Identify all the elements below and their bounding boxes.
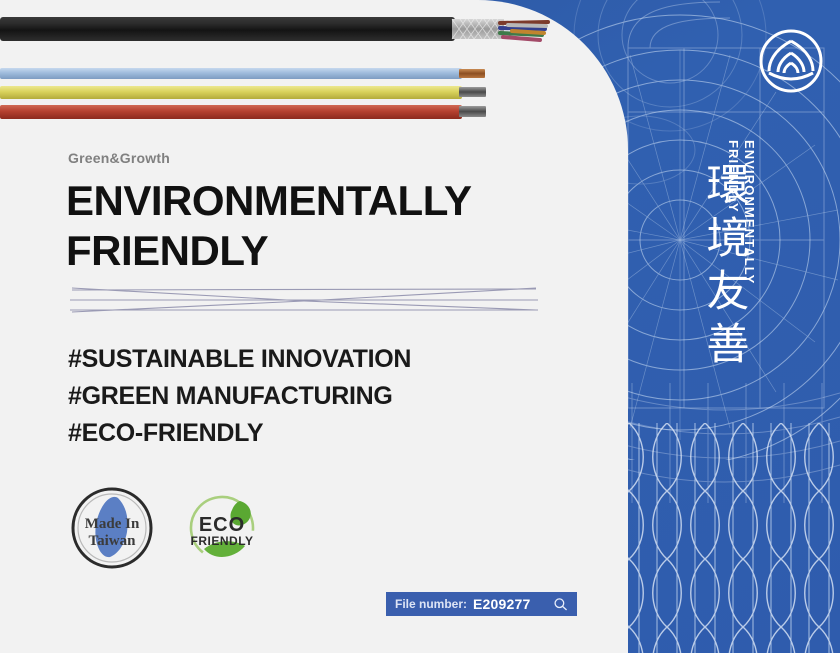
hashtag-item-1: #SUSTAINABLE INNOVATION [68, 341, 411, 378]
page-title: ENVIRONMENTALLY FRIENDLY [66, 176, 472, 276]
hashtag-item-2: #GREEN MANUFACTURING [68, 378, 411, 415]
cable-photo-group [0, 0, 560, 135]
certification-badges: Made In Taiwan ECO FRIENDLY [66, 484, 262, 572]
crossing-wires-divider-icon [68, 276, 540, 318]
file-number-value: E209277 [473, 596, 530, 612]
badge-text-line1: Made In [85, 516, 140, 532]
company-circle-logo [757, 27, 825, 95]
eco-label: ECO [199, 514, 245, 536]
hashtag-item-3: #ECO-FRIENDLY [68, 415, 411, 452]
content-card: Green&Growth ENVIRONMENTALLY FRIENDLY #S… [0, 0, 628, 653]
friendly-label: FRIENDLY [191, 534, 254, 548]
file-number-bar[interactable]: File number: E209277 [386, 592, 577, 616]
poster-canvas: 環 境 友 善 ENVIRONMENTALLY FRIENDLY [0, 0, 840, 653]
search-icon[interactable] [553, 597, 568, 612]
english-title-vertical: ENVIRONMENTALLY FRIENDLY [742, 140, 757, 284]
english-title-line1: ENVIRONMENTALLY [742, 140, 757, 284]
english-title-line2: FRIENDLY [726, 140, 741, 213]
made-in-taiwan-badge: Made In Taiwan [66, 484, 158, 572]
eco-friendly-badge: ECO FRIENDLY [182, 489, 262, 567]
badge-text-line2: Taiwan [89, 533, 137, 549]
file-number-label: File number: [395, 597, 467, 611]
chinese-char-4: 善 [702, 319, 754, 372]
hashtag-list: #SUSTAINABLE INNOVATION #GREEN MANUFACTU… [68, 341, 411, 452]
braided-lattice-pattern [610, 423, 840, 653]
eyebrow-label: Green&Growth [68, 150, 170, 166]
